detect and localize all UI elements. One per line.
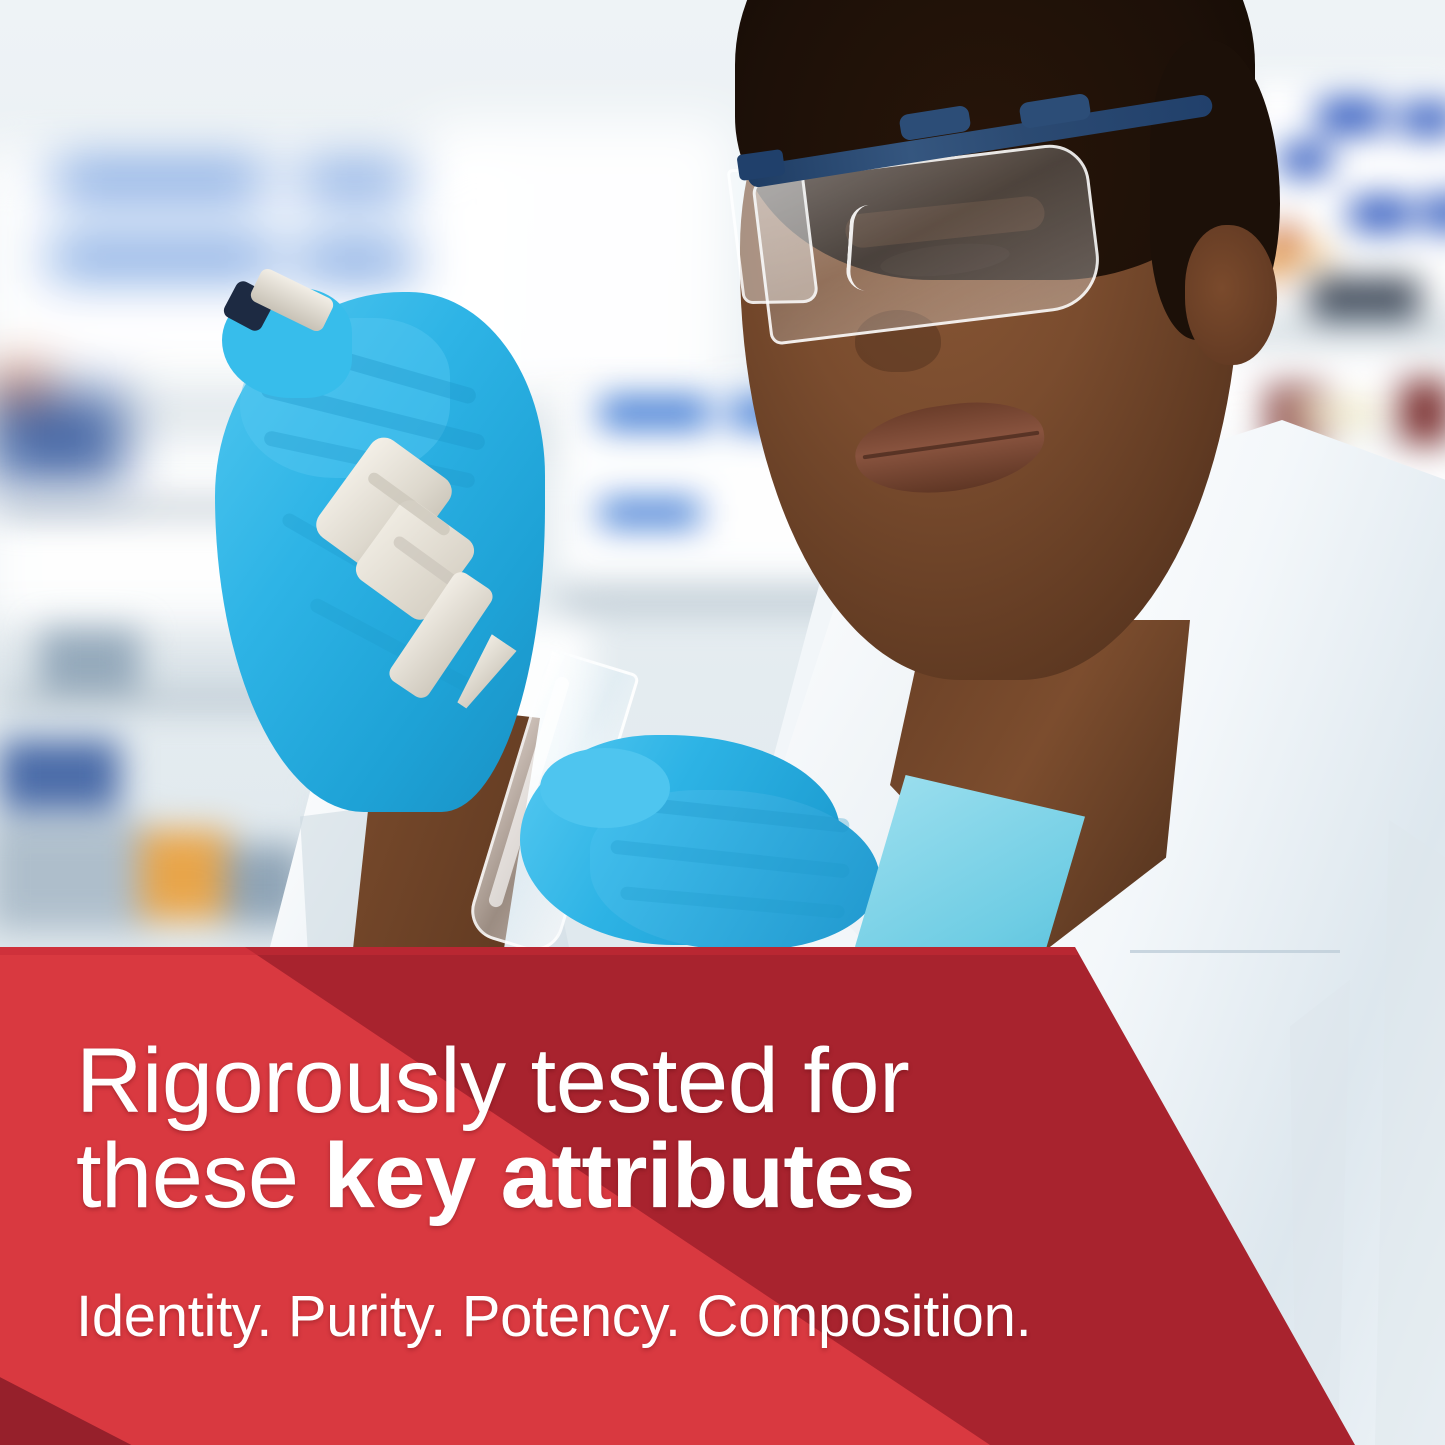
- subheadline: Identity. Purity. Potency. Composition.: [76, 1283, 1031, 1350]
- headline-line-2-bold: key attributes: [324, 1125, 915, 1227]
- headline-line-2-light: these: [76, 1125, 324, 1227]
- lab-technician: [0, 0, 1445, 1445]
- micropipette: [0, 0, 1445, 1445]
- promotional-image: Rigorously tested for these key attribut…: [0, 0, 1445, 1445]
- headline-line-1: Rigorously tested for: [76, 1035, 1076, 1127]
- headline-line-2: these key attributes: [76, 1127, 1076, 1226]
- banner-text-block: Rigorously tested for these key attribut…: [76, 1035, 1076, 1226]
- lab-photograph: [0, 0, 1445, 1445]
